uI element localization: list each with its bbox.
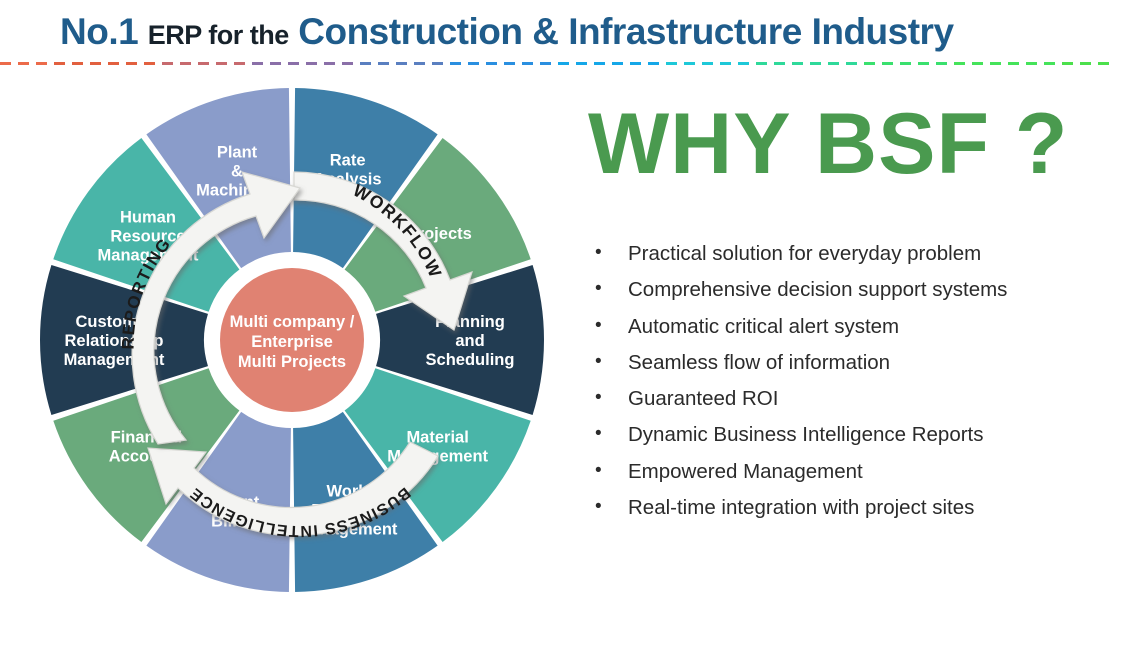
erp-wheel-diagram: RateAnalysisProjectsPlanningandSchedulin… (36, 84, 548, 596)
page-title: No.1 ERP for the Construction & Infrastr… (60, 11, 954, 56)
divider-dash (288, 62, 299, 65)
divider-dash (522, 62, 533, 65)
divider-dash (306, 62, 317, 65)
center-label-line3: Multi Projects (238, 353, 346, 371)
divider-dash (666, 62, 677, 65)
divider-dash (54, 62, 65, 65)
benefit-item: Empowered Management (586, 454, 1106, 490)
divider-dash (576, 62, 587, 65)
divider-dash (360, 62, 371, 65)
divider-dash (324, 62, 335, 65)
divider-dash (1080, 62, 1091, 65)
divider-dash (126, 62, 137, 65)
divider-dash (1098, 62, 1109, 65)
divider-dash (828, 62, 839, 65)
benefit-item: Guaranteed ROI (586, 381, 1106, 417)
divider-dash (936, 62, 947, 65)
divider-dash (234, 62, 245, 65)
divider-dash (558, 62, 569, 65)
divider-dash (972, 62, 983, 65)
divider-dash (72, 62, 83, 65)
divider-dash (342, 62, 353, 65)
benefit-item: Automatic critical alert system (586, 309, 1106, 345)
divider-dash (720, 62, 731, 65)
why-bsf-heading: WHY BSF ? (588, 96, 1068, 192)
divider-dash (144, 62, 155, 65)
divider-dash (846, 62, 857, 65)
benefit-item: Real-time integration with project sites (586, 490, 1106, 526)
divider-dash (774, 62, 785, 65)
slide-header: No.1 ERP for the Construction & Infrastr… (0, 0, 1129, 70)
divider-dash (18, 62, 29, 65)
gradient-divider (0, 62, 1129, 66)
divider-dash (216, 62, 227, 65)
divider-dash (738, 62, 749, 65)
divider-dash (468, 62, 479, 65)
divider-dash (648, 62, 659, 65)
divider-dash (882, 62, 893, 65)
wheel-svg: RateAnalysisProjectsPlanningandSchedulin… (36, 84, 548, 596)
divider-dash (396, 62, 407, 65)
divider-dash (270, 62, 281, 65)
divider-dash (432, 62, 443, 65)
divider-dash (630, 62, 641, 65)
divider-dash (504, 62, 515, 65)
divider-dash (1008, 62, 1019, 65)
benefit-item: Dynamic Business Intelligence Reports (586, 417, 1106, 453)
divider-dash (378, 62, 389, 65)
divider-dash (90, 62, 101, 65)
divider-dash (990, 62, 1001, 65)
divider-dash (864, 62, 875, 65)
divider-dash (252, 62, 263, 65)
divider-dash (954, 62, 965, 65)
divider-dash (810, 62, 821, 65)
divider-dash (918, 62, 929, 65)
benefit-item: Practical solution for everyday problem (586, 236, 1106, 272)
benefit-item: Seamless flow of information (586, 345, 1106, 381)
benefits-list: Practical solution for everyday problemC… (586, 236, 1106, 526)
divider-dash (0, 62, 11, 65)
title-erp: ERP for the (148, 20, 289, 50)
divider-dash (900, 62, 911, 65)
divider-dash (162, 62, 173, 65)
divider-dash (1026, 62, 1037, 65)
center-label-line1: Multi company / (230, 313, 355, 331)
divider-dash (684, 62, 695, 65)
divider-dash (36, 62, 47, 65)
divider-dash (486, 62, 497, 65)
divider-dash (702, 62, 713, 65)
divider-dash (594, 62, 605, 65)
divider-dash (450, 62, 461, 65)
center-label-line2: Enterprise (251, 333, 333, 351)
divider-dash (180, 62, 191, 65)
divider-dash (612, 62, 623, 65)
title-industry: Construction & Infrastructure Industry (298, 11, 953, 52)
divider-dash (792, 62, 803, 65)
divider-dash (756, 62, 767, 65)
divider-dash (198, 62, 209, 65)
divider-dash (108, 62, 119, 65)
title-no1: No.1 (60, 11, 138, 52)
benefit-item: Comprehensive decision support systems (586, 272, 1106, 308)
divider-dash (1062, 62, 1073, 65)
divider-dash (540, 62, 551, 65)
divider-dash (414, 62, 425, 65)
slide-root: No.1 ERP for the Construction & Infrastr… (0, 0, 1129, 646)
divider-dash (1044, 62, 1055, 65)
